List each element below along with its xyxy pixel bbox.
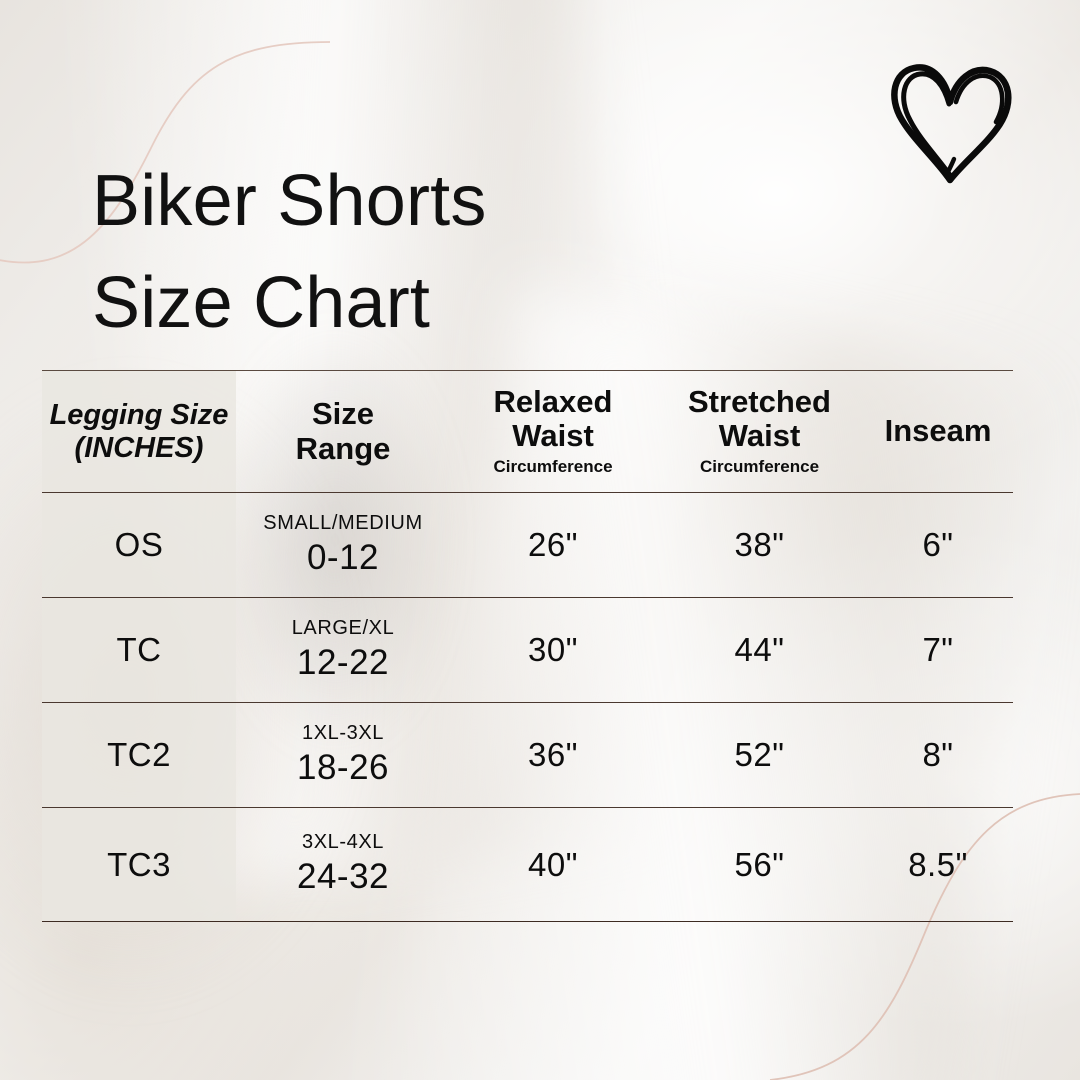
header-main-text: Size [312, 396, 374, 431]
size-range-label: SMALL/MEDIUM [236, 511, 450, 536]
cell-stretched-waist: 44" [656, 598, 863, 703]
page-title: Biker Shorts Size Chart [92, 150, 792, 354]
cell-stretched-waist: 52" [656, 703, 863, 808]
cell-relaxed-waist: 40" [450, 808, 656, 922]
cell-legging-size: TC2 [42, 703, 236, 808]
header-main-text: Relaxed [494, 384, 613, 419]
size-range-value: 12-22 [236, 642, 450, 685]
cell-relaxed-waist: 26" [450, 493, 656, 598]
column-header-inseam: Inseam [863, 371, 1013, 493]
header-secondary-text: (INCHES) [75, 432, 204, 464]
header-secondary-text: Range [296, 431, 391, 466]
table-row: TC3 3XL-4XL 24-32 40" 56" 8.5" [42, 808, 1013, 922]
cell-relaxed-waist: 36" [450, 703, 656, 808]
table-row: TC LARGE/XL 12-22 30" 44" 7" [42, 598, 1013, 703]
header-main-text: Stretched [688, 384, 831, 419]
column-header-relaxed-waist: Relaxed Waist Circumference [450, 371, 656, 493]
size-chart-table: Legging Size (INCHES) Size Range Relaxed… [42, 370, 1013, 921]
cell-size-range: SMALL/MEDIUM 0-12 [236, 493, 450, 598]
heart-icon [880, 58, 1020, 186]
cell-relaxed-waist: 30" [450, 598, 656, 703]
column-header-legging-size: Legging Size (INCHES) [42, 371, 236, 493]
cell-legging-size: OS [42, 493, 236, 598]
header-main-text: Inseam [885, 413, 992, 448]
cell-stretched-waist: 38" [656, 493, 863, 598]
size-range-label: 1XL-3XL [236, 721, 450, 746]
header-main-text: Legging Size [50, 399, 229, 431]
cell-inseam: 6" [863, 493, 1013, 598]
table-row: OS SMALL/MEDIUM 0-12 26" 38" 6" [42, 493, 1013, 598]
cell-stretched-waist: 56" [656, 808, 863, 922]
size-range-label: 3XL-4XL [236, 830, 450, 855]
column-header-size-range: Size Range [236, 371, 450, 493]
size-range-value: 0-12 [236, 537, 450, 580]
title-line-1: Biker Shorts [92, 150, 792, 252]
title-line-2: Size Chart [92, 252, 792, 354]
size-range-label: LARGE/XL [236, 616, 450, 641]
header-sub-text: Circumference [450, 456, 656, 478]
cell-size-range: 3XL-4XL 24-32 [236, 808, 450, 922]
cell-legging-size: TC [42, 598, 236, 703]
cell-size-range: LARGE/XL 12-22 [236, 598, 450, 703]
cell-size-range: 1XL-3XL 18-26 [236, 703, 450, 808]
header-secondary-text: Waist [512, 418, 594, 453]
table-row: TC2 1XL-3XL 18-26 36" 52" 8" [42, 703, 1013, 808]
cell-inseam: 7" [863, 598, 1013, 703]
column-header-stretched-waist: Stretched Waist Circumference [656, 371, 863, 493]
cell-legging-size: TC3 [42, 808, 236, 922]
cell-inseam: 8" [863, 703, 1013, 808]
header-secondary-text: Waist [719, 418, 801, 453]
table-header-row: Legging Size (INCHES) Size Range Relaxed… [42, 371, 1013, 493]
cell-inseam: 8.5" [863, 808, 1013, 922]
header-sub-text: Circumference [656, 456, 863, 478]
size-range-value: 18-26 [236, 747, 450, 790]
size-range-value: 24-32 [236, 856, 450, 899]
